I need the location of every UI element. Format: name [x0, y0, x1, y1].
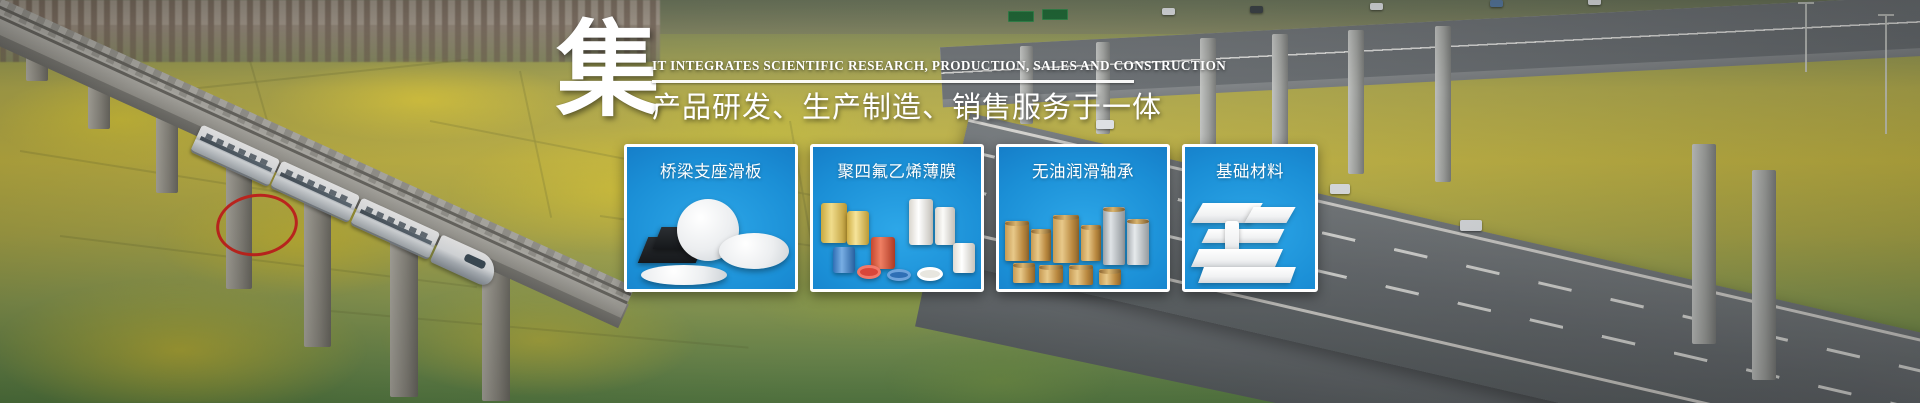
- headline-character: 集: [556, 18, 660, 122]
- headline-block: 集 IT INTEGRATES SCIENTIFIC RESEARCH, PRO…: [556, 18, 1176, 138]
- product-card-title: 基础材料: [1185, 158, 1315, 182]
- film-roll: [953, 243, 975, 273]
- hero-banner: 集 IT INTEGRATES SCIENTIFIC RESEARCH, PRO…: [0, 0, 1920, 403]
- bronze-bushing: [1069, 265, 1093, 285]
- product-image-oil-free-bearing: [999, 185, 1167, 289]
- bronze-bushing: [1053, 215, 1079, 263]
- bronze-bushing: [1127, 219, 1149, 265]
- film-ring: [887, 269, 911, 281]
- product-card-title: 聚四氟乙烯薄膜: [813, 158, 981, 182]
- white-block: [1244, 207, 1295, 223]
- film-ring: [917, 267, 943, 281]
- bronze-bushing: [1081, 225, 1101, 261]
- product-card-title: 无油润滑轴承: [999, 158, 1167, 182]
- bronze-bushing: [1103, 207, 1125, 265]
- product-card-bridge-bearing-slider[interactable]: 桥梁支座滑板: [624, 144, 798, 292]
- white-block: [1191, 249, 1283, 267]
- film-roll: [833, 247, 855, 273]
- product-card-ptfe-film[interactable]: 聚四氟乙烯薄膜: [810, 144, 984, 292]
- film-ring: [857, 265, 881, 279]
- slogan-english: IT INTEGRATES SCIENTIFIC RESEARCH, PRODU…: [652, 58, 1172, 74]
- film-roll: [935, 207, 955, 245]
- film-roll: [871, 237, 895, 269]
- bronze-bushing: [1005, 221, 1029, 261]
- white-block: [1202, 229, 1285, 243]
- white-block: [1198, 267, 1296, 283]
- white-disc: [719, 233, 789, 269]
- white-disc: [641, 265, 727, 285]
- slogan-divider: [652, 80, 1134, 83]
- product-image-bridge-bearing-slider: [627, 185, 795, 289]
- film-roll: [847, 211, 869, 245]
- bronze-bushing: [1039, 265, 1063, 283]
- product-image-ptfe-film: [813, 185, 981, 289]
- bronze-bushing: [1013, 263, 1035, 283]
- bronze-bushing: [1099, 269, 1121, 285]
- product-image-base-materials: [1185, 185, 1315, 289]
- product-card-base-materials[interactable]: 基础材料: [1182, 144, 1318, 292]
- bronze-bushing: [1031, 229, 1051, 261]
- product-card-list: 桥梁支座滑板 聚四氟乙烯薄膜: [624, 144, 1318, 292]
- product-card-oil-free-bearing[interactable]: 无油润滑轴承: [996, 144, 1170, 292]
- film-roll: [909, 199, 933, 245]
- film-roll: [821, 203, 847, 243]
- slogan-block: IT INTEGRATES SCIENTIFIC RESEARCH, PRODU…: [652, 58, 1172, 124]
- slogan-chinese: 产品研发、生产制造、销售服务于一体: [652, 90, 1172, 124]
- product-card-title: 桥梁支座滑板: [627, 158, 795, 182]
